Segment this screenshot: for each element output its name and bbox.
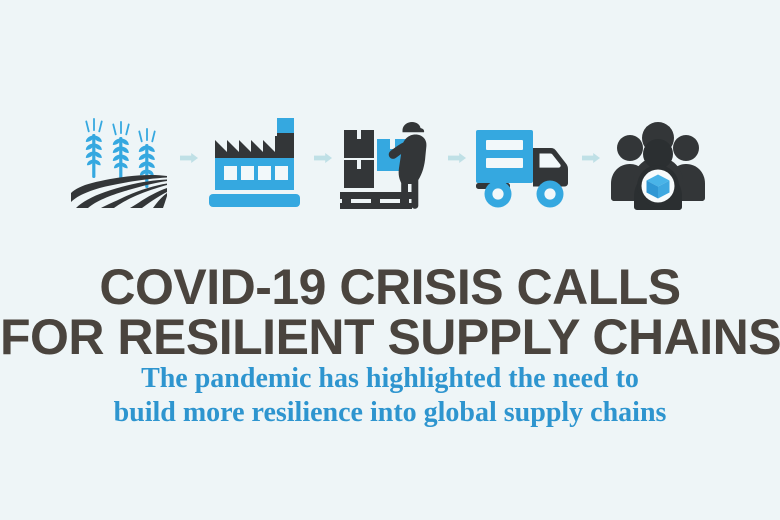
supply-chain-icon-row	[0, 104, 780, 212]
factory-base	[209, 194, 300, 207]
page-subtitle: The pandemic has highlighted the need to…	[0, 362, 780, 430]
farm-icon	[68, 106, 176, 210]
supply-chain-poster: COVID-19 CRISIS CALLS FOR RESILIENT SUPP…	[0, 0, 780, 520]
delivery-truck-icon	[470, 106, 578, 210]
chimney-top	[277, 118, 294, 133]
product-badge	[637, 165, 679, 207]
page-title: COVID-19 CRISIS CALLS FOR RESILIENT SUPP…	[0, 262, 780, 362]
ploughed-field	[71, 175, 167, 208]
chain-arrow-3	[444, 106, 470, 210]
factory-roof	[215, 136, 294, 158]
chain-arrow-1	[176, 106, 202, 210]
subheadline-line-2: build more resilience into global supply…	[0, 396, 780, 430]
headline-line-2: FOR RESILIENT SUPPLY CHAINS	[0, 312, 780, 362]
factory-icon	[202, 106, 310, 210]
headline-line-1: COVID-19 CRISIS CALLS	[0, 262, 780, 312]
truck-cargo-box	[476, 130, 533, 183]
truck-wheel-front	[537, 181, 564, 208]
truck-wheel-rear	[485, 181, 512, 208]
chain-arrow-2	[310, 106, 336, 210]
subheadline-line-1: The pandemic has highlighted the need to	[0, 362, 780, 396]
consumers-icon	[604, 106, 712, 210]
warehouse-worker-icon	[336, 106, 444, 210]
chain-arrow-4	[578, 106, 604, 210]
